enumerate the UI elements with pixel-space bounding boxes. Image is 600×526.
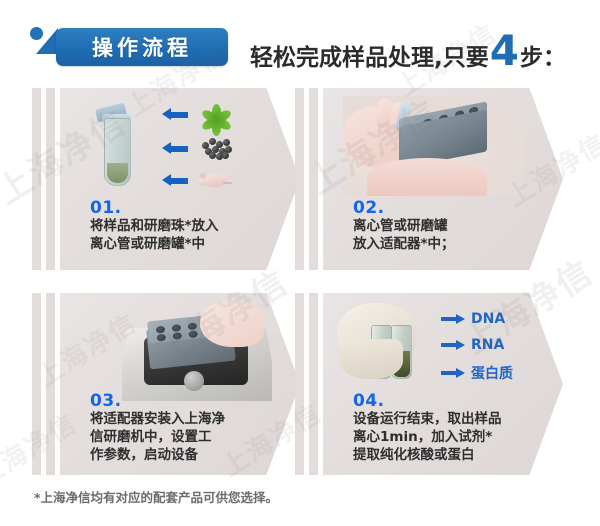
header: 操作流程 轻松完成样品处理,只要 4 步： [0,0,600,86]
step-caption-line: 将样品和研磨珠*放入 [90,218,286,236]
banner-label: 操作流程 [92,32,192,62]
step-caption-line: 设备运行结束，取出样品 [353,411,549,429]
step-caption-line: 提取纯化核酸或蛋白 [353,447,549,465]
card-accent-bar [295,88,304,270]
step-01-illustration [74,94,274,198]
step-number: 04. [353,393,549,411]
plant-leaf-icon [200,100,232,126]
card-accent-bar [295,293,304,475]
step-caption-line: 离心1min，加入试剂* [353,429,549,447]
step-02-illustration [343,96,523,196]
card-accent-bar [46,88,55,270]
step-03-illustration [122,301,272,401]
card-accent-bar [309,293,318,475]
step-card-02: 02. 离心管或研磨罐 放入适配器*中； [295,88,563,270]
step-caption-line: 将适配器安装入上海净 [90,411,286,429]
hand-icon [200,301,264,347]
banner-dot-icon [30,27,43,40]
output-label: RNA [471,337,504,353]
step-02-caption: 02. 离心管或研磨罐 放入适配器*中； [353,200,549,254]
step-card-01: 01. 将样品和研磨珠*放入 离心管或研磨罐*中 [32,88,300,270]
step-card-body: 02. 离心管或研磨罐 放入适配器*中； [323,88,563,270]
card-accent-bar [32,293,41,475]
steps-grid: 01. 将样品和研磨珠*放入 离心管或研磨罐*中 [0,88,600,480]
step-caption-line: 信研磨机中，设置工 [90,429,286,447]
headline-number: 4 [490,30,519,72]
output-row-dna: DNA [441,311,505,327]
card-accent-bar [32,88,41,270]
arrow-left-icon [162,174,188,187]
arrow-left-icon [162,108,188,121]
output-row-rna: RNA [441,337,504,353]
footer-note: *上海净信均有对应的配套产品可供您选择。 [34,487,278,506]
step-caption-line: 离心管或研磨罐*中 [90,236,286,254]
section-banner: 操作流程 [56,28,228,66]
step-card-body: DNA RNA 蛋白质 04. 设备运行结束，取出样品 离心1min，加入试剂*… [323,293,563,475]
arrow-right-icon [441,368,465,379]
page-headline: 轻松完成样品处理,只要 4 步： [250,30,566,70]
step-04-illustration [337,303,447,385]
step-card-04: DNA RNA 蛋白质 04. 设备运行结束，取出样品 离心1min，加入试剂*… [295,293,563,475]
step-caption-line: 放入适配器*中； [353,236,549,254]
grinding-beads-icon [200,136,232,162]
step-03-caption: 03. 将适配器安装入上海净 信研磨机中，设置工 作参数，启动设备 [90,393,286,465]
output-label: 蛋白质 [471,363,513,383]
mouse-icon [198,170,230,196]
step-number: 02. [353,200,549,218]
step-caption-line: 离心管或研磨罐 [353,218,549,236]
step-card-03: 03. 将适配器安装入上海净 信研磨机中，设置工 作参数，启动设备 [32,293,300,475]
step-04-caption: 04. 设备运行结束，取出样品 离心1min，加入试剂* 提取纯化核酸或蛋白 [353,393,549,465]
step-number: 03. [90,393,286,411]
step-card-body: 03. 将适配器安装入上海净 信研磨机中，设置工 作参数，启动设备 [60,293,300,475]
output-label: DNA [471,311,505,327]
card-accent-bar [46,293,55,475]
arrow-left-icon [162,142,188,155]
card-accent-bar [309,88,318,270]
arrow-right-icon [441,314,465,325]
step-card-body: 01. 将样品和研磨珠*放入 离心管或研磨罐*中 [60,88,300,270]
step-number: 01. [90,200,286,218]
headline-suffix: 步： [520,38,566,72]
centrifuge-tube-icon [94,106,140,198]
arrow-right-icon [441,340,465,351]
step-01-caption: 01. 将样品和研磨珠*放入 离心管或研磨罐*中 [90,200,286,254]
headline-prefix: 轻松完成样品处理,只要 [250,38,489,72]
output-row-protein: 蛋白质 [441,363,513,383]
step-caption-line: 作参数，启动设备 [90,447,286,465]
